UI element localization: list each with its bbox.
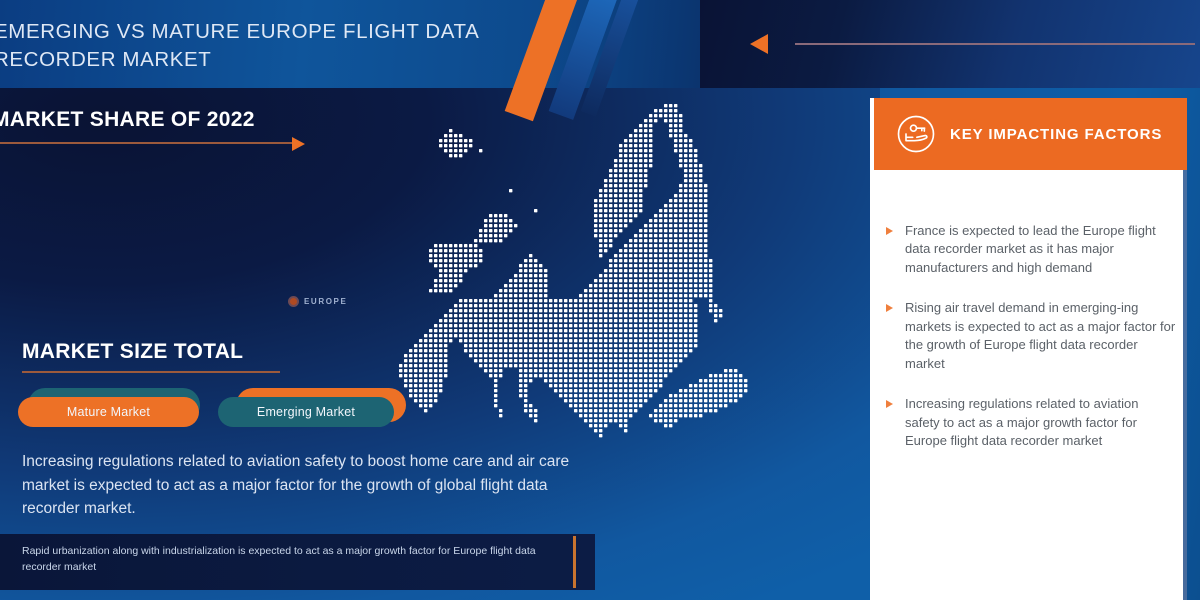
list-item: France is expected to lead the Europe fl… xyxy=(886,222,1176,277)
legend-item-emerging[interactable]: Emerging Market xyxy=(218,388,408,434)
footer-accent-bar xyxy=(573,536,576,588)
list-item: Increasing regulations related to aviati… xyxy=(886,395,1176,450)
list-item-text: Rising air travel demand in emerging-ing… xyxy=(905,299,1176,373)
market-size-section: MARKET SIZE TOTAL xyxy=(22,340,402,373)
map-legend-label: EUROPE xyxy=(304,297,347,306)
hand-holding-key-icon xyxy=(896,114,936,154)
key-factors-list: France is expected to lead the Europe fl… xyxy=(886,222,1176,473)
key-factors-heading: KEY IMPACTING FACTORS xyxy=(950,126,1162,143)
europe-dotted-map xyxy=(392,92,832,452)
legend-pill-mature-label: Mature Market xyxy=(18,397,199,427)
market-share-section: MARKET SHARE OF 2022 xyxy=(0,108,322,148)
top-arrow-head-icon xyxy=(750,34,768,54)
legend-item-mature[interactable]: Mature Market xyxy=(18,388,203,434)
market-size-paragraph: Increasing regulations related to aviati… xyxy=(22,450,582,521)
market-share-arrow xyxy=(0,138,322,148)
list-item-text: Increasing regulations related to aviati… xyxy=(905,395,1176,450)
list-item-text: France is expected to lead the Europe fl… xyxy=(905,222,1176,277)
bullet-arrow-icon xyxy=(886,400,893,408)
market-size-underline xyxy=(22,371,280,373)
market-share-title: MARKET SHARE OF 2022 xyxy=(0,108,322,132)
infographic-canvas: EMERGING VS MATURE EUROPE FLIGHT DATA RE… xyxy=(0,0,1200,600)
legend-pill-emerging-label: Emerging Market xyxy=(218,397,394,427)
list-item: Rising air travel demand in emerging-ing… xyxy=(886,299,1176,373)
footer-text: Rapid urbanization along with industrial… xyxy=(22,544,562,576)
top-arrow-line xyxy=(795,43,1195,45)
map-pin-icon xyxy=(288,296,299,307)
market-legend: Mature Market Emerging Market xyxy=(18,388,418,438)
map-legend-europe: EUROPE xyxy=(288,296,347,307)
market-size-title: MARKET SIZE TOTAL xyxy=(22,340,402,364)
arrow-line xyxy=(0,142,298,144)
bullet-arrow-icon xyxy=(886,227,893,235)
bullet-arrow-icon xyxy=(886,304,893,312)
page-title: EMERGING VS MATURE EUROPE FLIGHT DATA RE… xyxy=(0,18,554,74)
arrow-head-icon xyxy=(292,137,305,151)
key-factors-header: KEY IMPACTING FACTORS xyxy=(874,98,1187,170)
